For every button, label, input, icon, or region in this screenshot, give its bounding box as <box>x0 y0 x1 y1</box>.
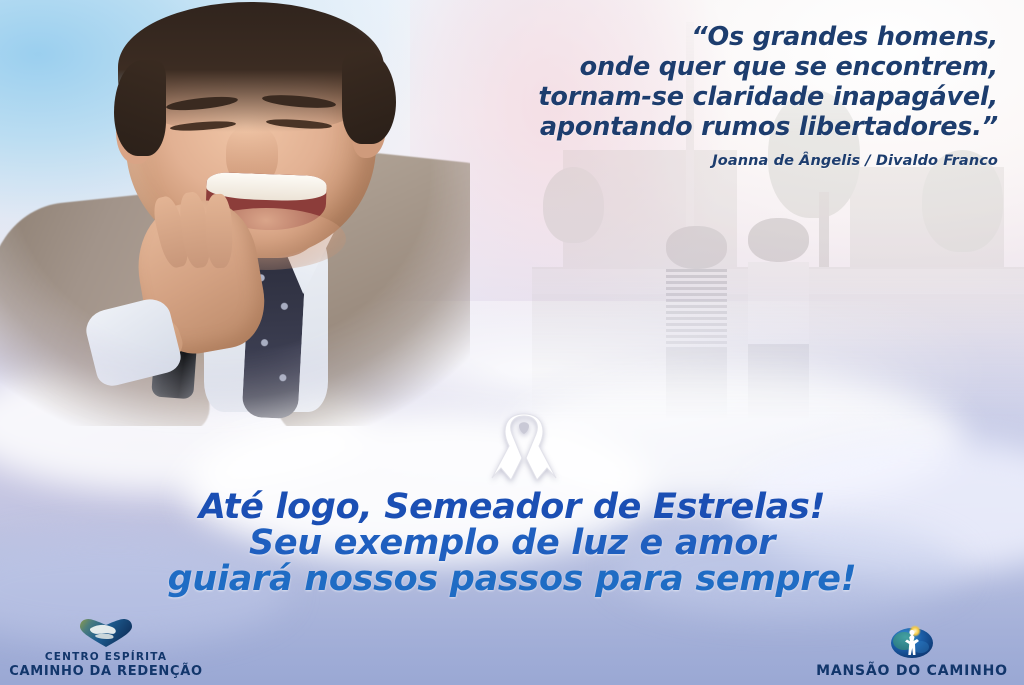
tribute-message: Até logo, Semeador de Estrelas! Seu exem… <box>0 489 1024 597</box>
backdrop-person-white-shirt <box>748 218 809 422</box>
backdrop-tree <box>543 167 604 243</box>
white-mourning-ribbon-icon <box>489 412 559 484</box>
message-line-3: guiará nossos passos para sempre! <box>0 561 1024 597</box>
quote-attribution: Joanna de Ângelis / Divaldo Franco <box>338 153 998 169</box>
message-line-1: Até logo, Semeador de Estrelas! <box>0 489 1024 525</box>
logo-mansao-do-caminho: MANSÃO DO CAMINHO <box>808 624 1016 679</box>
quote-block: “Os grandes homens, onde quer que se enc… <box>338 22 998 169</box>
quote-line-2: onde quer que se encontrem, <box>338 52 998 82</box>
quote-line-4: apontando rumos libertadores.” <box>338 112 998 142</box>
message-line-2: Seu exemplo de luz e amor <box>0 525 1024 561</box>
logo-left-line-1: CENTRO ESPÍRITA <box>8 651 204 664</box>
quote-line-3: tornam-se claridade inapagável, <box>338 82 998 112</box>
finger <box>205 194 234 269</box>
quote-line-1: “Os grandes homens, <box>338 22 998 52</box>
memorial-poster: “Os grandes homens, onde quer que se enc… <box>0 0 1024 685</box>
globe-figure-logo-icon <box>888 624 936 660</box>
logo-right-line-1: MANSÃO DO CAMINHO <box>808 663 1016 679</box>
hair-side-left <box>114 60 166 156</box>
logo-left-line-2: CAMINHO DA REDENÇÃO <box>8 664 204 679</box>
backdrop-person-striped-shirt <box>666 226 727 421</box>
heart-hands-logo-icon <box>78 618 134 648</box>
logo-centro-espirita: CENTRO ESPÍRITA CAMINHO DA REDENÇÃO <box>8 618 204 679</box>
